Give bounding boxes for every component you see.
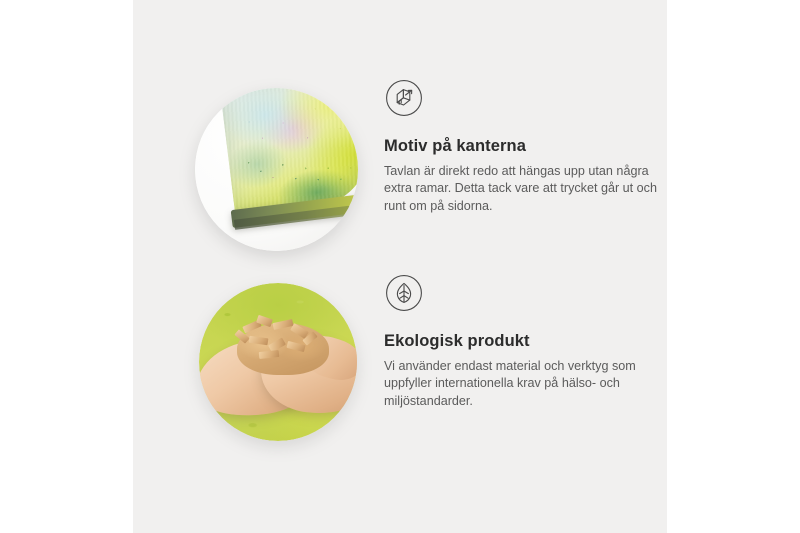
- feature-text-motiv: Motiv på kanterna Tavlan är direkt redo …: [384, 78, 659, 215]
- canvas-block: [212, 88, 358, 244]
- hands-wood-chips-photo: [199, 283, 357, 441]
- canvas-corner-photo: [195, 88, 358, 251]
- feature-item-motiv-pa-kanterna: Motiv på kanterna Tavlan är direkt redo …: [133, 78, 667, 253]
- feature-list: Motiv på kanterna Tavlan är direkt redo …: [133, 0, 667, 533]
- feature-item-ekologisk-produkt: Ekologisk produkt Vi använder endast mat…: [133, 273, 667, 448]
- feature-description: Vi använder endast material och verktyg …: [384, 358, 659, 410]
- feature-description: Tavlan är direkt redo att hängas upp uta…: [384, 163, 659, 215]
- leaf-icon: [384, 273, 659, 318]
- canvas-edge-print-icon: [384, 78, 659, 123]
- promo-graphic: Motiv på kanterna Tavlan är direkt redo …: [0, 0, 800, 533]
- feature-panel: Motiv på kanterna Tavlan är direkt redo …: [133, 0, 667, 533]
- feature-title: Ekologisk produkt: [384, 332, 659, 351]
- feature-text-ekologisk: Ekologisk produkt Vi använder endast mat…: [384, 273, 659, 410]
- feature-title: Motiv på kanterna: [384, 137, 659, 156]
